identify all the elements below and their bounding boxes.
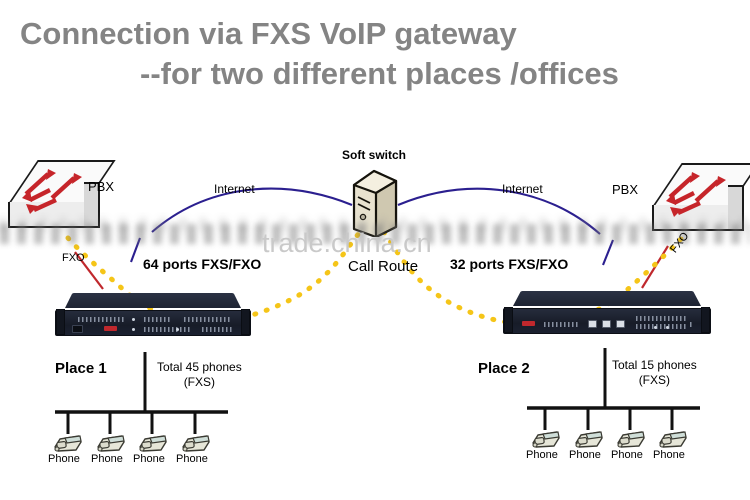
page-title: Connection via FXS VoIP gateway --for tw… [0, 14, 750, 94]
total-phones-right-line1: Total 15 phones [612, 358, 697, 373]
brand-logo [104, 326, 117, 331]
port-row-1 [78, 317, 126, 322]
soft-switch-icon [352, 167, 398, 237]
pbx-icon-left [4, 160, 100, 232]
phone-icon [530, 429, 560, 447]
ports-label-left: 64 ports FXS/FXO [143, 256, 261, 272]
internet-label-right: Internet [502, 182, 543, 196]
status-led-2 [132, 328, 135, 331]
phone-label: Phone [526, 449, 558, 461]
rj45-port-3 [616, 320, 625, 328]
total-phones-right-line2: (FXS) [612, 373, 697, 388]
total-phones-left-line2: (FXS) [157, 375, 242, 390]
rack-ear-right [241, 309, 250, 335]
phone-icon [180, 433, 210, 451]
watermark-text: trade.china.cn [262, 228, 432, 259]
phone-label: Phone [133, 453, 165, 465]
port-row-2 [636, 316, 688, 321]
phone-icon [52, 433, 82, 451]
soft-switch-label: Soft switch [342, 148, 406, 162]
leader-right-ports [603, 240, 613, 265]
pbx-arrows-left [4, 160, 100, 232]
port-row-4 [144, 327, 190, 332]
gateway-top [513, 291, 701, 306]
status-led-3 [176, 328, 179, 331]
total-phones-left-line1: Total 45 phones [157, 360, 242, 375]
phone-label: Phone [48, 453, 80, 465]
port-row-1 [544, 322, 578, 327]
total-phones-left: Total 45 phones (FXS) [157, 360, 242, 390]
phone-label: Phone [176, 453, 208, 465]
brand-logo [522, 321, 535, 326]
place-label-right: Place 2 [478, 360, 530, 377]
call-route-label: Call Route [348, 258, 418, 275]
phone-icon [137, 433, 167, 451]
phone-icon [615, 429, 645, 447]
status-led-1 [654, 326, 657, 329]
rack-ear-left [56, 309, 65, 335]
gateway-top [65, 293, 241, 308]
pbx-arrows-right [648, 163, 744, 235]
port-row-4 [690, 322, 692, 327]
phone-label: Phone [611, 449, 643, 461]
phone-label: Phone [91, 453, 123, 465]
status-led-1 [132, 318, 135, 321]
voip-gateway-left [55, 286, 251, 336]
gateway-front-panel [503, 308, 711, 334]
power-switch [72, 325, 83, 333]
pbx-icon-right [648, 163, 744, 235]
fxo-line-right [642, 246, 668, 288]
port-row-3 [636, 324, 688, 329]
fxo-label-left: FXO [62, 252, 85, 264]
phone-icon [95, 433, 125, 451]
phone-label: Phone [569, 449, 601, 461]
pbx-label-left: PBX [88, 179, 114, 194]
diagram-canvas: Connection via FXS VoIP gateway --for tw… [0, 0, 750, 500]
rj45-port-1 [588, 320, 597, 328]
leader-left-ports [131, 238, 140, 262]
pbx-label-right: PBX [612, 182, 638, 197]
ports-label-right: 32 ports FXS/FXO [450, 256, 568, 272]
phone-icon [573, 429, 603, 447]
title-line-2: --for two different places /offices [0, 54, 750, 94]
port-row-2 [144, 317, 170, 322]
title-line-1: Connection via FXS VoIP gateway [0, 14, 750, 54]
rj45-port-2 [602, 320, 611, 328]
internet-arc-right [398, 189, 600, 234]
total-phones-right: Total 15 phones (FXS) [612, 358, 697, 388]
place-label-left: Place 1 [55, 360, 107, 377]
status-led-2 [666, 326, 669, 329]
rack-ear-right [701, 307, 710, 333]
gateway-front-panel [55, 310, 251, 336]
rack-ear-left [504, 307, 513, 333]
port-row-5 [202, 327, 232, 332]
internet-label-left: Internet [214, 182, 255, 196]
phone-label: Phone [653, 449, 685, 461]
phone-icon [657, 429, 687, 447]
port-row-3 [184, 317, 232, 322]
voip-gateway-right [503, 284, 711, 334]
